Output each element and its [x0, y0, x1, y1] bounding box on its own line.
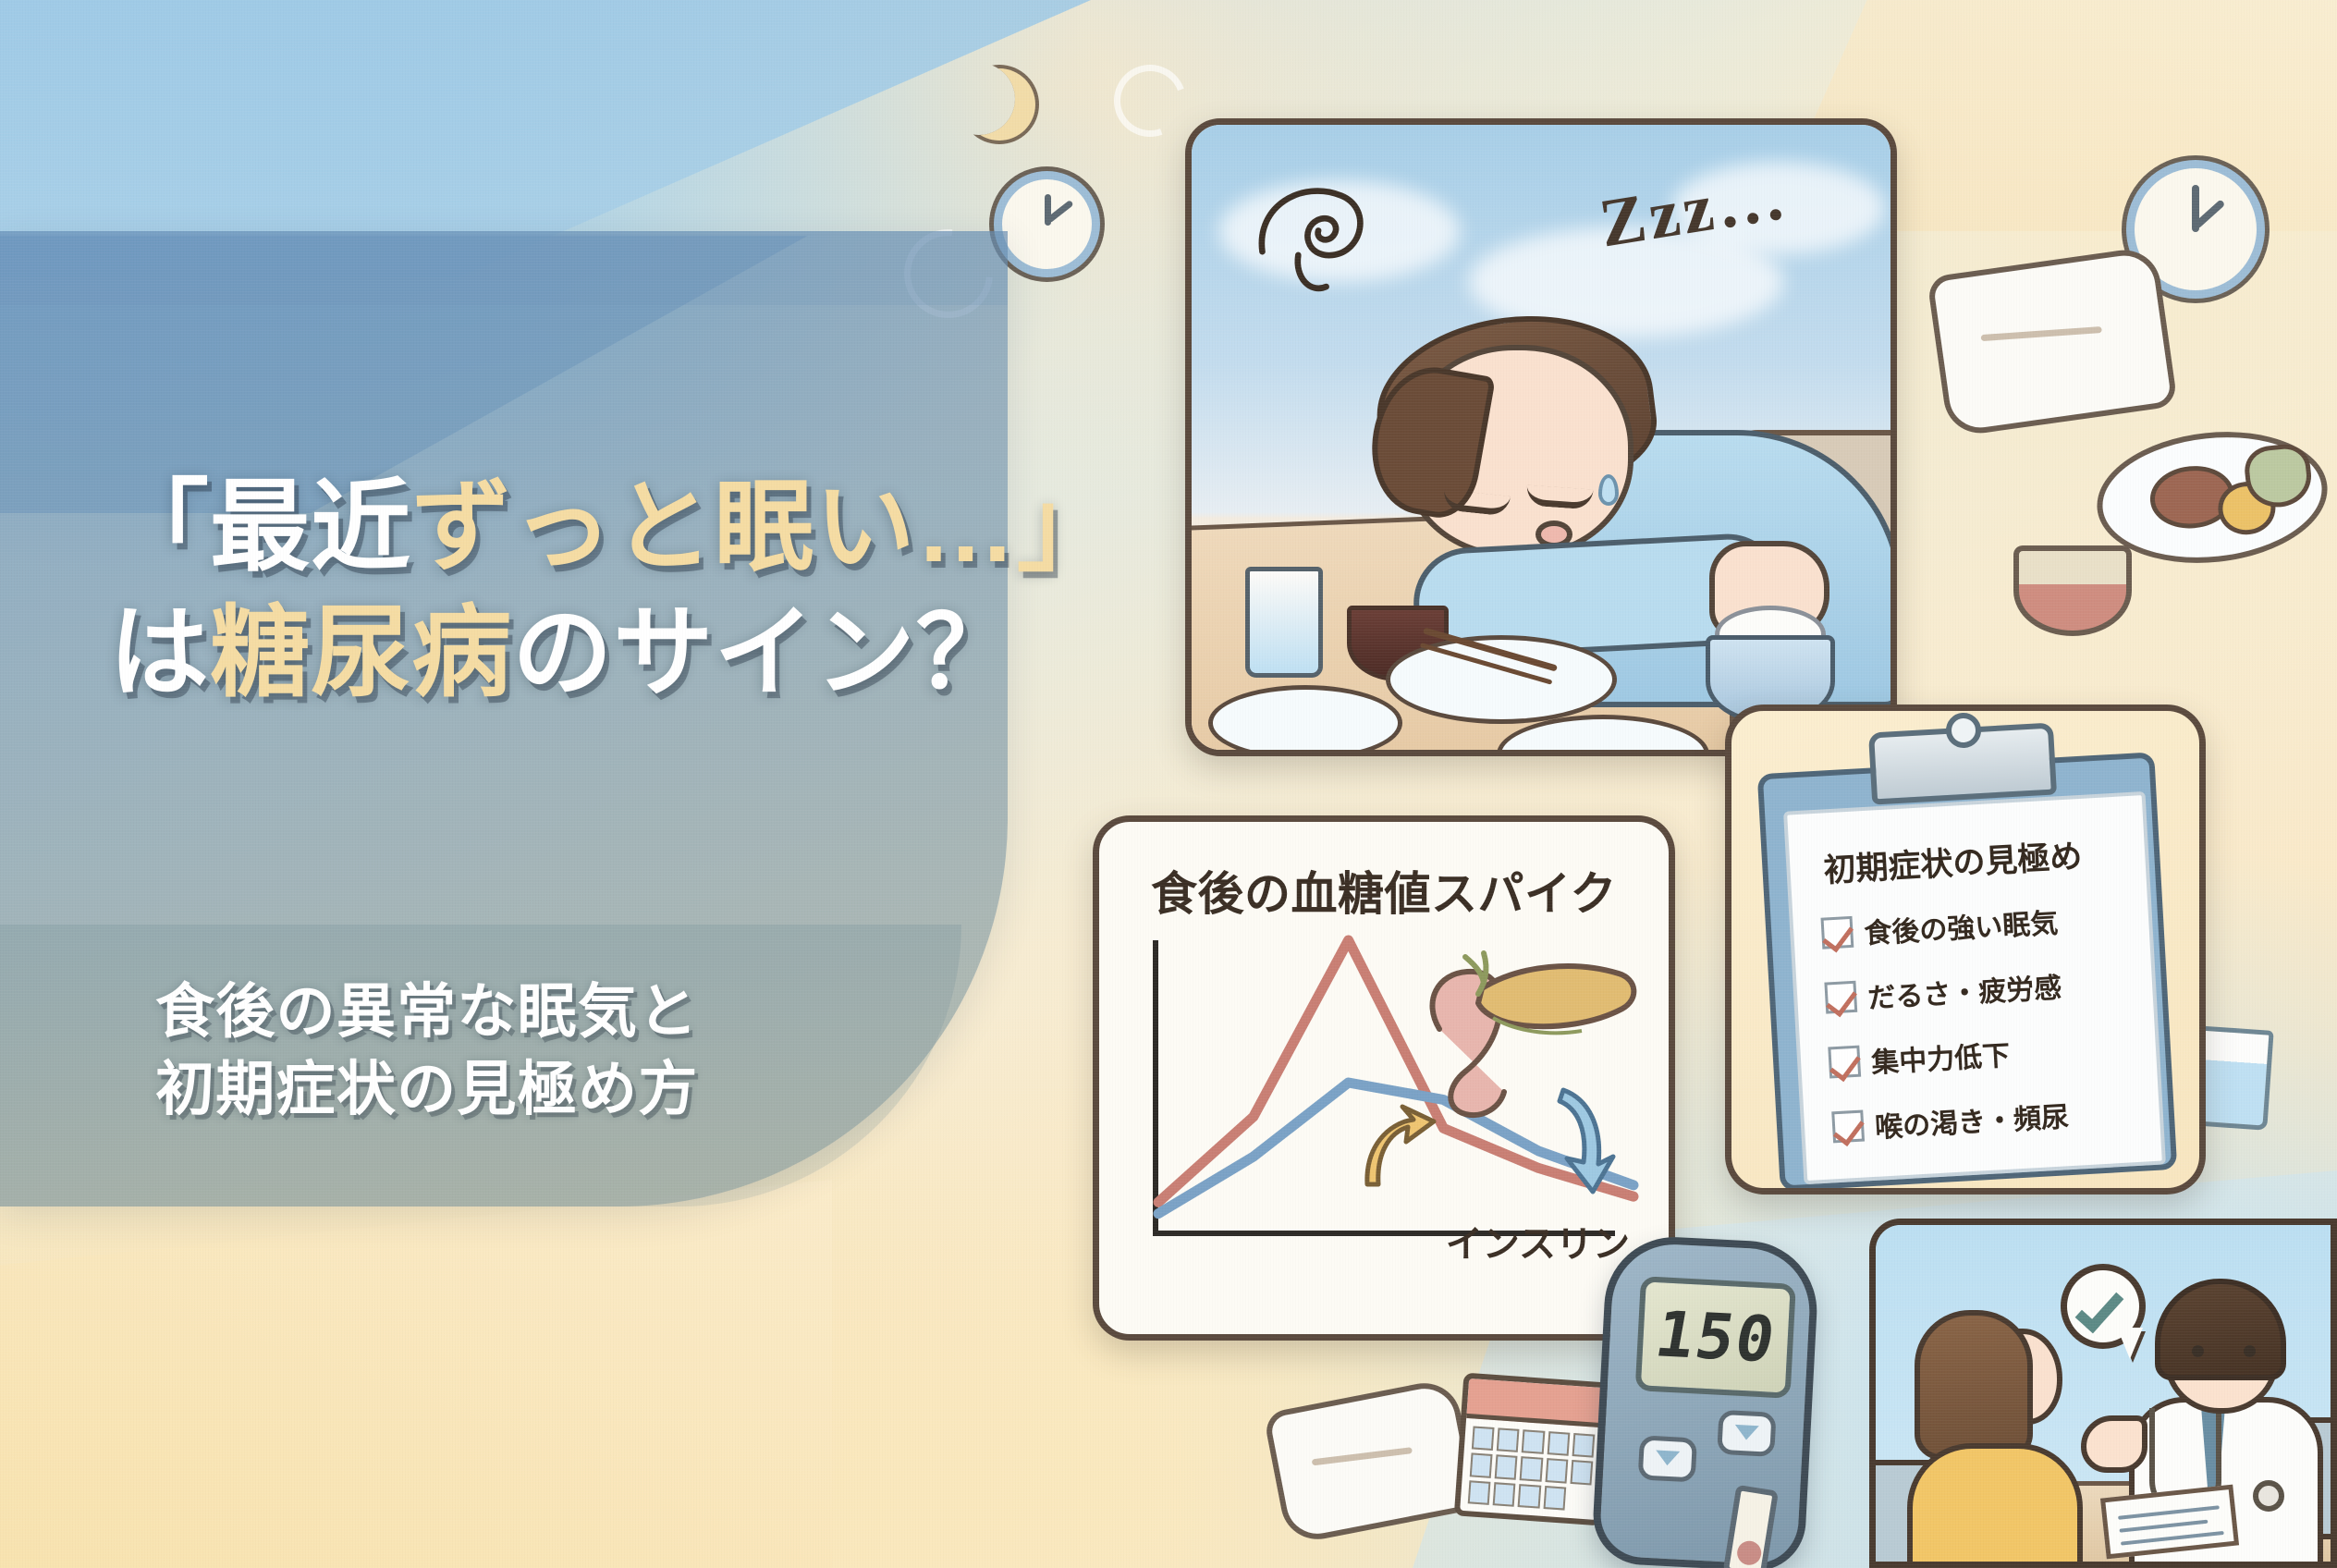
- checklist-title: 初期症状の見極め: [1822, 827, 2129, 891]
- subtitle-line-2: 初期症状の見極め方: [155, 1050, 950, 1128]
- side-plate-left: [1208, 685, 1402, 756]
- moon-icon: [943, 63, 1015, 135]
- doctor-eye-left: [2192, 1345, 2204, 1357]
- headline-line1-part2: ずっと眠い…」: [411, 471, 1118, 582]
- arrow-up-icon: [1347, 1099, 1439, 1192]
- checklist-item-4[interactable]: 喉の渇き・頻尿: [1831, 1094, 2070, 1147]
- glucose-meter[interactable]: 150: [1591, 1233, 1820, 1568]
- water-glass-on-table: [1245, 567, 1323, 678]
- page-subtitle: 食後の異常な眠気と 初期症状の見極め方: [155, 973, 950, 1129]
- miso-soup-icon: [2013, 545, 2132, 636]
- arrow-down-icon: [1536, 1083, 1628, 1199]
- headline-line1-part1: 「最近: [109, 471, 411, 582]
- headline-line2-part1: は: [109, 596, 210, 708]
- poster-canvas: 「最近ずっと眠い…」 は糖尿病のサイン？ 食後の異常な眠気と 初期症状の見極め方…: [0, 0, 2337, 1568]
- meter-reading: 150: [1650, 1298, 1781, 1377]
- subtitle-line-1: 食後の異常な眠気と: [155, 973, 950, 1050]
- checkbox-checked-icon[interactable]: [1821, 916, 1854, 949]
- meter-button-left[interactable]: [1638, 1435, 1697, 1482]
- speech-bubble: [2061, 1264, 2146, 1349]
- doctor-consultation-scene: [1869, 1219, 2337, 1568]
- sweat-drop-icon: [1598, 474, 1619, 506]
- doctor-hand: [2081, 1415, 2147, 1473]
- clipboard: 初期症状の見極め 食後の強い眠気 だるさ・疲労感 集中力低下 喉の渇き・頻尿: [1757, 752, 2178, 1191]
- checklist-item-1[interactable]: 食後の強い眠気: [1820, 900, 2059, 953]
- test-strip: [1723, 1485, 1779, 1568]
- insulin-label: インスリン: [1446, 1214, 1630, 1268]
- clock-icon-left: [994, 171, 1100, 277]
- pillow-icon-right: [1927, 245, 2178, 437]
- meter-button-right[interactable]: [1717, 1410, 1776, 1457]
- doctor-eye-right: [2244, 1345, 2256, 1357]
- headline-line2-part3: のサイン？: [512, 596, 1016, 708]
- chart-title: 食後の血糖値スパイク: [1099, 857, 1669, 924]
- checklist-item-4-label: 喉の渇き・頻尿: [1874, 1094, 2070, 1145]
- illustration-card-sleeping-man: Zzz…: [1185, 118, 1897, 756]
- checklist-item-3[interactable]: 集中力低下: [1828, 1033, 2011, 1084]
- sleepy-swirl-icon: [1249, 171, 1425, 337]
- checklist-card: 初期症状の見極め 食後の強い眠気 だるさ・疲労感 集中力低下 喉の渇き・頻尿: [1725, 704, 2206, 1194]
- patient-hair: [1915, 1310, 2033, 1460]
- clipboard-paper: 初期症状の見極め 食後の強い眠気 だるさ・疲労感 集中力低下 喉の渇き・頻尿: [1783, 791, 2166, 1184]
- headline-line2-part2: 糖尿病: [210, 596, 512, 708]
- checkbox-checked-icon[interactable]: [1828, 1046, 1861, 1079]
- checklist-item-1-label: 食後の強い眠気: [1863, 900, 2059, 951]
- meter-display: 150: [1635, 1276, 1796, 1399]
- stethoscope-diaphragm-icon: [2253, 1480, 2284, 1512]
- check-mark-icon: [2075, 1283, 2124, 1334]
- calendar-icon: [1454, 1373, 1611, 1526]
- checkbox-checked-icon[interactable]: [1831, 1110, 1865, 1144]
- chart-card-blood-sugar-spike: 食後の血糖値スパイク インスリン: [1093, 815, 1675, 1341]
- patient-body: [1907, 1443, 2083, 1568]
- checklist-item-2[interactable]: だるさ・疲労感: [1824, 964, 2062, 1018]
- checklist-item-3-label: 集中力低下: [1870, 1033, 2011, 1081]
- page-title: 「最近ずっと眠い…」 は糖尿病のサイン？: [109, 467, 1015, 712]
- checklist-item-2-label: だるさ・疲労感: [1866, 964, 2062, 1016]
- checkbox-checked-icon[interactable]: [1824, 981, 1857, 1014]
